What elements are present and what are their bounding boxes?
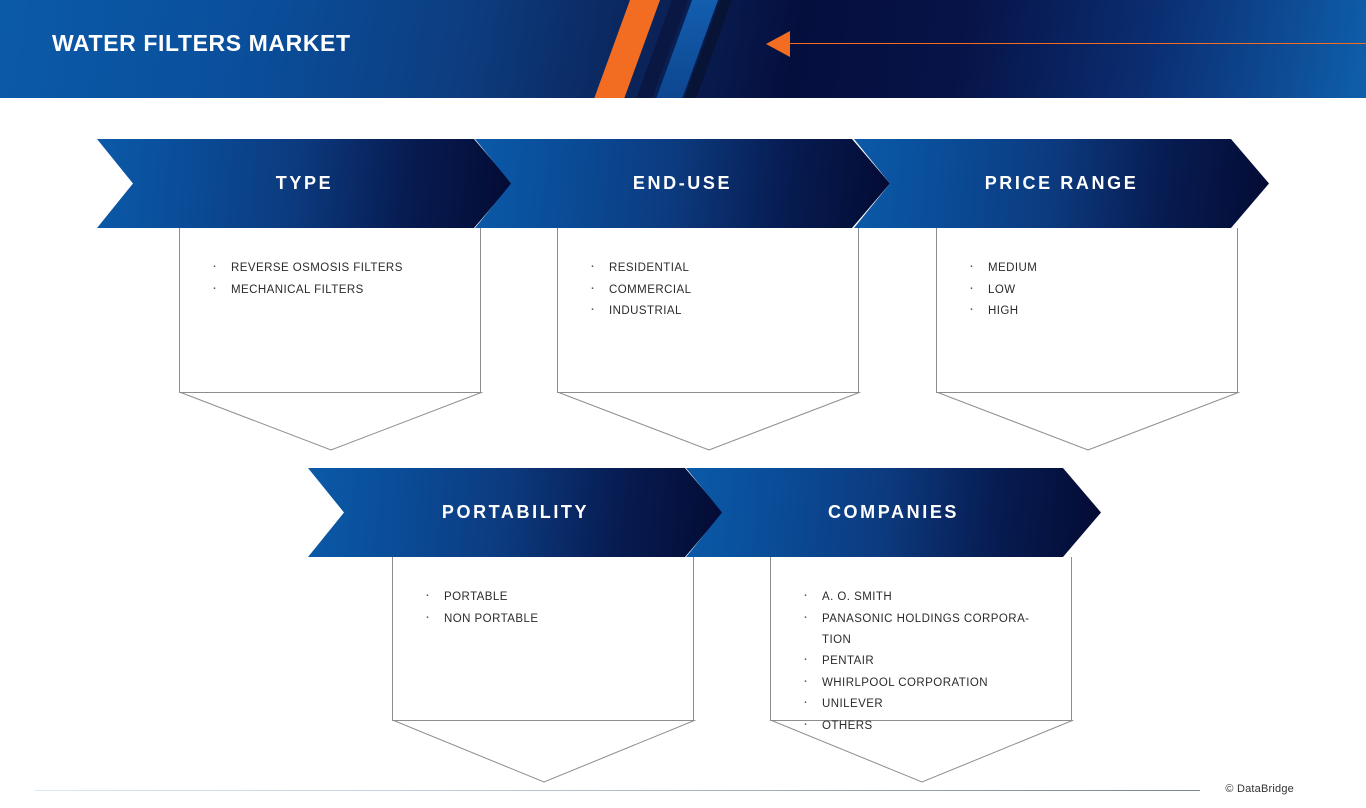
segment-banner-label: COMPANIES [828, 502, 959, 523]
page-title: WATER FILTERS MARKET [52, 30, 351, 57]
list-item: PORTABLE [421, 587, 691, 608]
infographic-page: WATER FILTERS MARKET TYPE END-USE PRICE … [0, 0, 1366, 808]
segment-banner-end-use[interactable]: END-USE [475, 139, 890, 228]
segment-banner-label: TYPE [276, 173, 333, 194]
segment-banner-type[interactable]: TYPE [97, 139, 512, 228]
list-item: MECHANICAL FILTERS [208, 280, 478, 301]
header-accent-rule [789, 43, 1366, 44]
list-item: LOW [965, 280, 1235, 301]
segment-list-price-range: MEDIUM LOW HIGH [965, 258, 1235, 323]
segment-list-companies: A. O. SMITH PANASONIC HOLDINGS CORPORA-T… [799, 587, 1057, 737]
list-item: OTHERS [799, 716, 1057, 737]
list-item: PANASONIC HOLDINGS CORPORA-TION [799, 609, 1057, 651]
segment-box-point-end-use [557, 392, 861, 452]
list-item: NON PORTABLE [421, 609, 691, 630]
list-item: RESIDENTIAL [586, 258, 856, 279]
footer-divider [35, 790, 1200, 791]
segment-box-point-type [179, 392, 483, 452]
segment-banner-label: END-USE [633, 173, 732, 194]
list-item: COMMERCIAL [586, 280, 856, 301]
segment-banner-companies[interactable]: COMPANIES [686, 468, 1101, 557]
segment-banner-label: PORTABILITY [442, 502, 589, 523]
segment-banner-price-range[interactable]: PRICE RANGE [854, 139, 1269, 228]
list-item: A. O. SMITH [799, 587, 1057, 608]
segment-list-portability: PORTABLE NON PORTABLE [421, 587, 691, 630]
segment-banner-portability[interactable]: PORTABILITY [308, 468, 723, 557]
segment-list-end-use: RESIDENTIAL COMMERCIAL INDUSTRIAL [586, 258, 856, 323]
segment-box-point-price-range [936, 392, 1240, 452]
footer-credit: © DataBridge [1225, 783, 1294, 795]
segment-box-type [179, 228, 481, 393]
header-banner: WATER FILTERS MARKET [0, 0, 1366, 98]
left-arrow-icon [766, 31, 790, 57]
segment-list-type: REVERSE OSMOSIS FILTERS MECHANICAL FILTE… [208, 258, 478, 301]
segment-box-portability [392, 557, 694, 721]
list-item: REVERSE OSMOSIS FILTERS [208, 258, 478, 279]
list-item: PENTAIR [799, 651, 1057, 672]
list-item: MEDIUM [965, 258, 1235, 279]
segment-banner-label: PRICE RANGE [985, 173, 1139, 194]
list-item: HIGH [965, 301, 1235, 322]
list-item: UNILEVER [799, 694, 1057, 715]
list-item: WHIRLPOOL CORPORATION [799, 673, 1057, 694]
list-item: INDUSTRIAL [586, 301, 856, 322]
segment-box-point-portability [392, 720, 696, 784]
